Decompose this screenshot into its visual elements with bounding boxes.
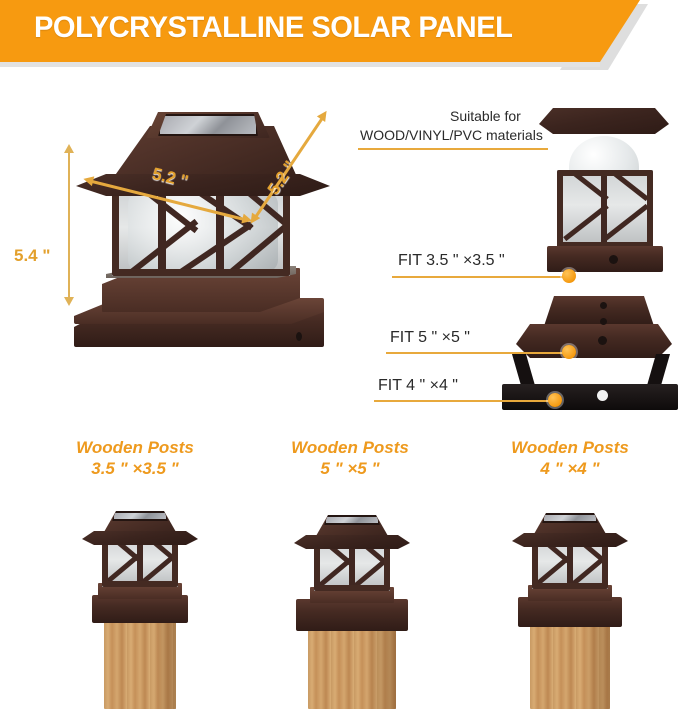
fit-leader-1: [392, 276, 568, 278]
post-2-base-plate: [296, 599, 408, 631]
post-title-2: Wooden Posts 5 " ×5 ": [250, 437, 450, 479]
banner-underline: [0, 62, 600, 67]
adapter-5x5-top-riser: [544, 296, 654, 326]
fit-label-1: FIT 3.5 " ×3.5 ": [398, 252, 505, 270]
exploded-cage-frame: [557, 170, 653, 248]
dimension-height-label: 5.4 ": [14, 246, 50, 266]
post-title-1: Wooden Posts 3.5 " ×3.5 ": [35, 437, 235, 479]
post-title-2-line1: Wooden Posts: [250, 437, 450, 458]
adapter-screw-hole: [598, 336, 607, 345]
adapter-screw-hole: [600, 302, 607, 309]
exploded-screw-hole: [609, 255, 618, 264]
wood-shading: [152, 619, 176, 709]
material-note-leader: [358, 148, 548, 150]
main-product-illustration: [60, 100, 360, 410]
post-3-solar-panel: [542, 513, 598, 523]
adapter-stack-illustration: [492, 288, 679, 410]
exploded-base-plate: [547, 246, 663, 272]
wooden-post-1: [104, 619, 176, 709]
post-title-1-line1: Wooden Posts: [35, 437, 235, 458]
adapter-4x4-plate: [502, 384, 678, 410]
post-illustration-1: [60, 497, 220, 709]
material-note-line2: WOOD/VINYL/PVC materials: [360, 127, 543, 143]
exploded-roof: [539, 108, 669, 134]
material-note-line1: Suitable for: [450, 108, 521, 124]
adapter-4x4-hole: [597, 390, 608, 401]
fit-dot-1: [562, 269, 576, 283]
wood-shading: [583, 623, 610, 709]
exploded-unit-illustration: [535, 108, 679, 288]
post-illustration-2: [272, 497, 432, 709]
post-1-base-plate: [92, 595, 188, 623]
wood-shading: [366, 625, 396, 709]
post-title-3-line2: 4 " ×4 ": [470, 458, 670, 479]
header-banner: POLYCRYSTALLINE SOLAR PANEL: [0, 0, 679, 72]
dimension-arrow-down-icon: [64, 297, 74, 306]
adapter-screw-hole: [600, 318, 607, 325]
post-title-2-line2: 5 " ×5 ": [250, 458, 450, 479]
post-illustration-3: [490, 497, 650, 709]
post-title-1-line2: 3.5 " ×3.5 ": [35, 458, 235, 479]
fit-dot-3: [548, 393, 562, 407]
fit-leader-2: [386, 352, 568, 354]
solar-panel: [158, 114, 258, 136]
post-title-3-line1: Wooden Posts: [470, 437, 670, 458]
fit-leader-3: [374, 400, 552, 402]
fit-label-2: FIT 5 " ×5 ": [390, 329, 470, 347]
fit-label-3: FIT 4 " ×4 ": [378, 377, 458, 395]
post-1-roof-brim: [82, 531, 198, 545]
main-lamp-screw-hole: [296, 332, 302, 341]
post-3-roof-brim: [512, 533, 628, 547]
post-title-3: Wooden Posts 4 " ×4 ": [470, 437, 670, 479]
post-2-solar-panel: [324, 515, 380, 525]
dimension-arrow-up-icon: [64, 144, 74, 153]
page-title: POLYCRYSTALLINE SOLAR PANEL: [34, 11, 512, 45]
wooden-post-3: [530, 623, 610, 709]
exploded-cage: [557, 170, 653, 248]
dimension-height-line: [68, 152, 70, 298]
post-2-roof-brim: [294, 535, 410, 549]
fit-dot-2: [562, 345, 576, 359]
post-1-solar-panel: [112, 511, 168, 521]
post-3-base-plate: [518, 597, 622, 627]
wooden-post-2: [308, 625, 396, 709]
